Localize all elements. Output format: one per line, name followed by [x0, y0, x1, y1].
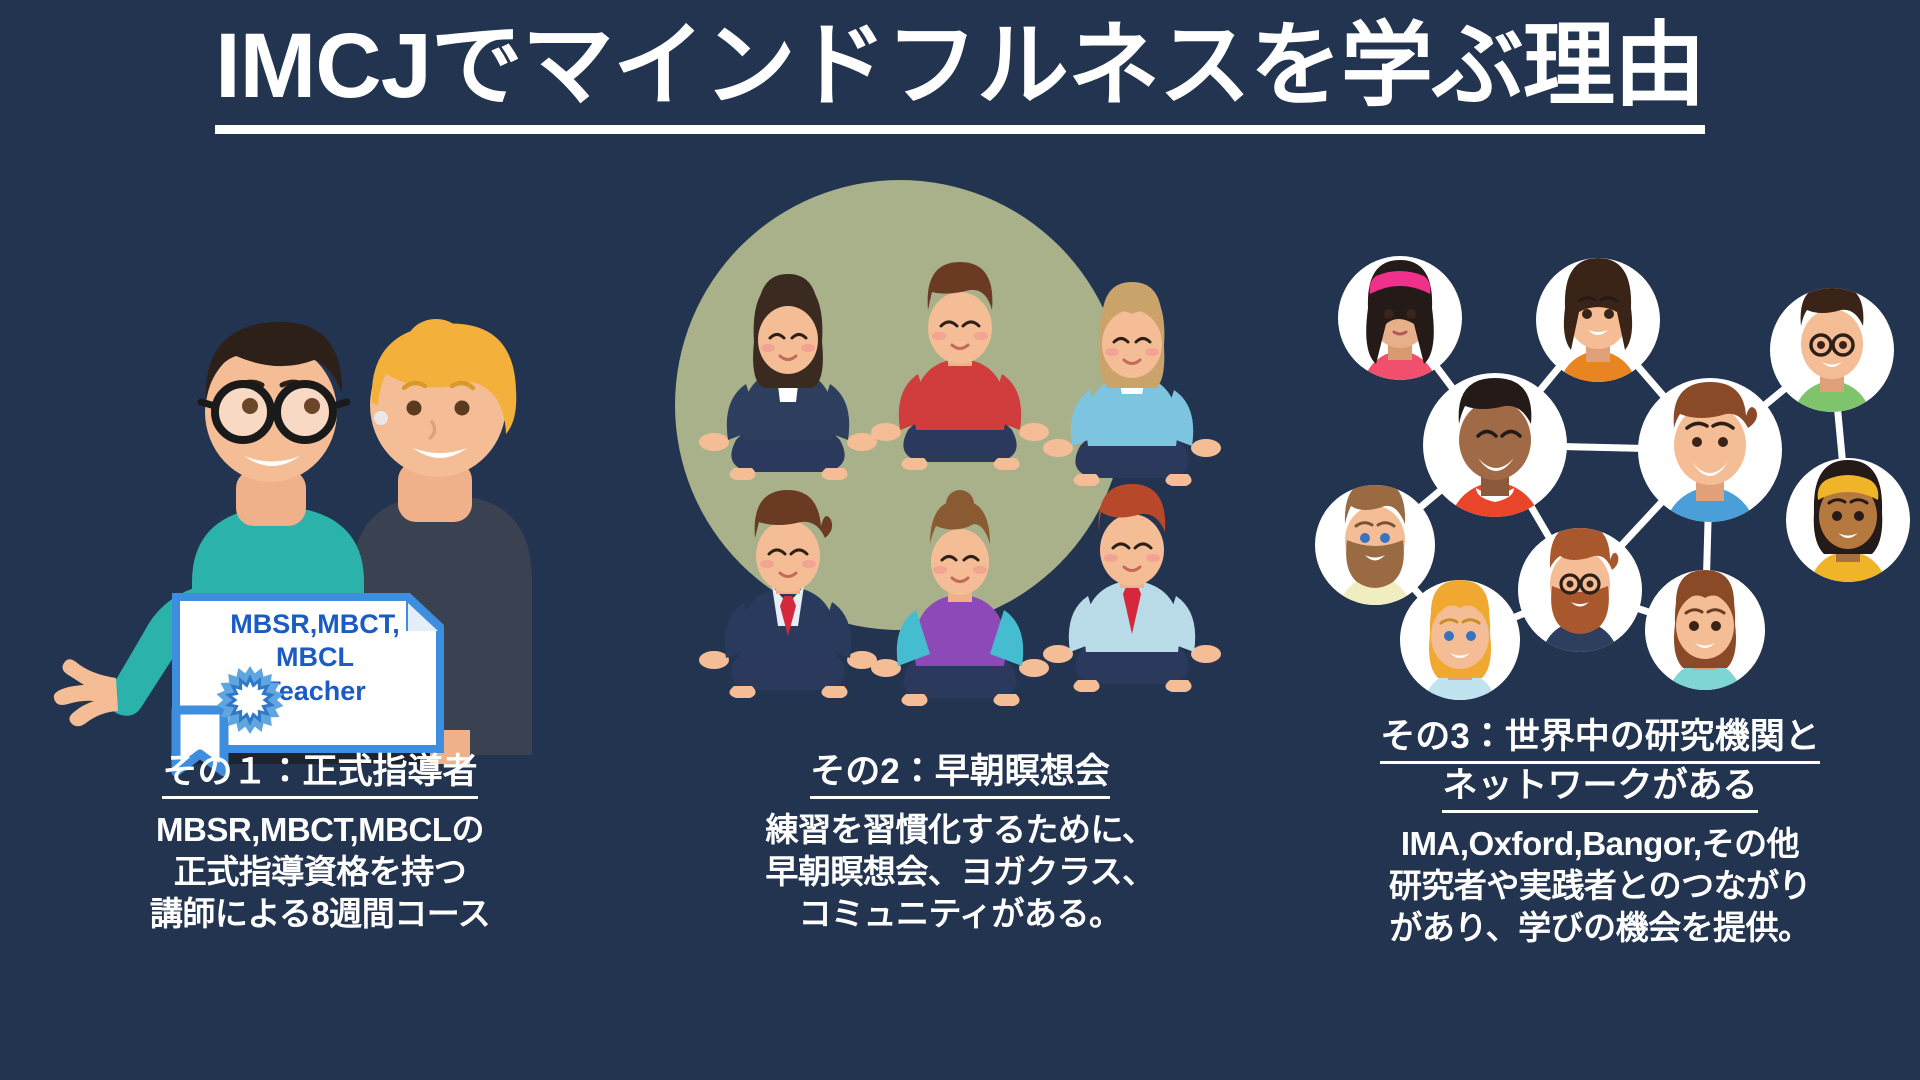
meditator-lightblue-woman: [1043, 282, 1221, 486]
column-3-body: IMA,Oxford,Bangor,その他 研究者や実践者とのつながり があり、…: [1280, 823, 1920, 950]
column-3-heading-line-2: ネットワークがある: [1442, 764, 1757, 813]
column-3-body-line-2: 研究者や実践者とのつながり: [1280, 865, 1920, 907]
meditator-purple-woman: [871, 490, 1049, 706]
node-woman-teal-top: [1645, 570, 1765, 700]
column-3-body-line-3: があり、学びの機会を提供。: [1280, 907, 1920, 949]
network-graph: [1280, 190, 1920, 750]
column-3-heading: その3：世界中の研究機関と ネットワークがある: [1280, 715, 1920, 813]
column-1-body-line-3: 講師による8週間コース: [0, 893, 640, 935]
node-man-red-shirt: [1423, 373, 1567, 528]
column-1-body: MBSR,MBCT,MBCLの 正式指導資格を持つ 講師による8週間コース: [0, 809, 640, 936]
column-3: その3：世界中の研究機関と ネットワークがある IMA,Oxford,Bango…: [1280, 190, 1920, 1070]
node-woman-blonde: [1400, 580, 1520, 710]
meditator-red-shirt-man: [871, 262, 1049, 470]
column-2-heading: その2：早朝瞑想会: [640, 750, 1280, 799]
column-3-body-line-1: IMA,Oxford,Bangor,その他: [1280, 823, 1920, 865]
column-2-captions: その2：早朝瞑想会 練習を習慣化するために、 早朝瞑想会、ヨガクラス、 コミュニ…: [640, 750, 1280, 936]
column-1-illustration: MBSR,MBCT, MBCL Teacher: [0, 190, 640, 750]
column-1-body-line-2: 正式指導資格を持つ: [0, 851, 640, 893]
award-seal-icon: [205, 655, 295, 745]
column-2-body-line-3: コミュニティがある。: [640, 893, 1280, 935]
columns-container: MBSR,MBCT, MBCL Teacher その１：正式指導者 MBSR,M…: [0, 190, 1920, 1070]
column-1-body-line-1: MBSR,MBCT,MBCLの: [0, 809, 640, 851]
page-title: IMCJでマインドフルネスを学ぶ理由: [215, 18, 1705, 134]
certificate-line-1: MBSR,MBCT,: [200, 608, 430, 641]
column-3-illustration: [1280, 190, 1920, 750]
column-1-heading: その１：正式指導者: [0, 750, 640, 799]
meditators-group: [640, 190, 1280, 750]
node-man-blue-shirt: [1638, 378, 1782, 533]
title-container: IMCJでマインドフルネスを学ぶ理由: [0, 18, 1920, 134]
column-2-illustration: [640, 190, 1280, 750]
column-2-body-line-2: 早朝瞑想会、ヨガクラス、: [640, 851, 1280, 893]
meditator-dark-suit-man: [699, 490, 877, 698]
meditator-lightblue-shirt-man: [1043, 484, 1221, 692]
column-2: その2：早朝瞑想会 練習を習慣化するために、 早朝瞑想会、ヨガクラス、 コミュニ…: [640, 190, 1280, 1070]
node-woman-yellow-headband: [1786, 458, 1910, 592]
meditator-navy-suit-woman: [699, 274, 877, 480]
node-man-glasses-green: [1770, 284, 1894, 422]
column-3-heading-line-1: その3：世界中の研究機関と: [1380, 715, 1819, 764]
slide-root: IMCJでマインドフルネスを学ぶ理由: [0, 0, 1920, 1080]
column-3-captions: その3：世界中の研究機関と ネットワークがある IMA,Oxford,Bango…: [1280, 715, 1920, 949]
node-woman-pink-headband: [1338, 256, 1462, 390]
column-1-captions: その１：正式指導者 MBSR,MBCT,MBCLの 正式指導資格を持つ 講師によ…: [0, 750, 640, 936]
column-2-body: 練習を習慣化するために、 早朝瞑想会、ヨガクラス、 コミュニティがある。: [640, 809, 1280, 936]
column-2-body-line-1: 練習を習慣化するために、: [640, 809, 1280, 851]
column-1: MBSR,MBCT, MBCL Teacher その１：正式指導者 MBSR,M…: [0, 190, 640, 1070]
